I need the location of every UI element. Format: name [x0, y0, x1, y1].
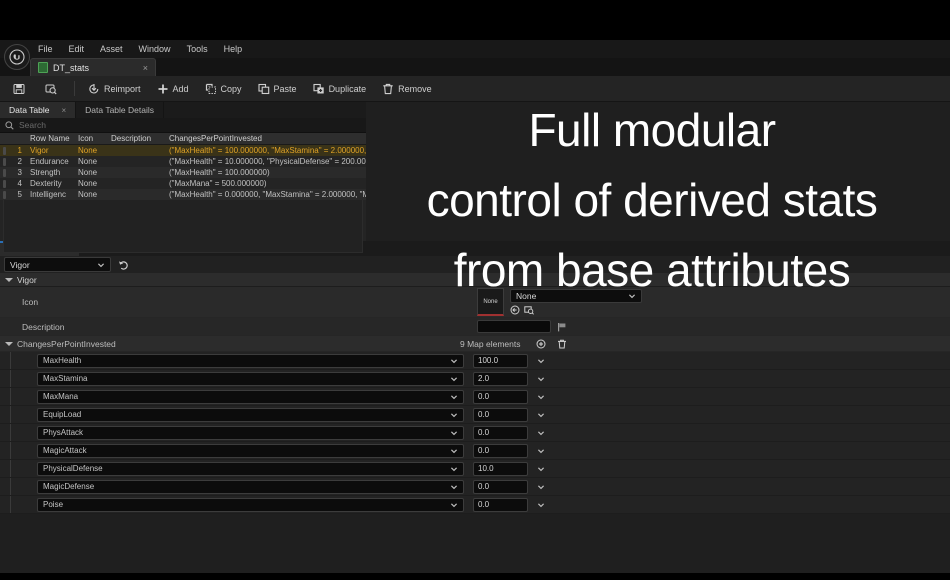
row-icon-value: None: [78, 146, 111, 155]
menu-bar: File Edit Asset Window Tools Help: [0, 40, 950, 58]
chevron-down-icon[interactable]: [537, 411, 545, 419]
asset-tab-label: DT_stats: [53, 63, 138, 73]
map-entry-key[interactable]: MagicAttack: [37, 444, 464, 458]
chevron-down-icon: [450, 393, 458, 401]
chevron-down-icon: [450, 465, 458, 473]
chevron-down-icon: [450, 357, 458, 365]
tree-indent-line: [10, 496, 11, 513]
copy-icon: [205, 83, 217, 95]
search-bar[interactable]: Search: [0, 118, 366, 133]
duplicate-button[interactable]: Duplicate: [306, 78, 374, 99]
datatable-icon: [38, 62, 48, 73]
map-entry-key[interactable]: MaxStamina: [37, 372, 464, 386]
column-header-changes[interactable]: ChangesPerPointInvested: [169, 134, 366, 143]
map-entry-key-label: MaxMana: [43, 392, 78, 401]
chevron-down-icon[interactable]: [537, 393, 545, 401]
asset-toolbar: Reimport Add Copy: [0, 76, 950, 102]
column-header-row-name[interactable]: Row Name: [25, 134, 78, 143]
row-index: 2: [10, 157, 25, 166]
chevron-down-icon[interactable]: [537, 447, 545, 455]
row-name: Intelligenc: [25, 190, 78, 199]
save-button[interactable]: [6, 78, 36, 99]
map-entry-row: PhysAttack 0.0: [0, 424, 950, 442]
tree-indent-line: [10, 460, 11, 477]
tree-indent-line: [10, 370, 11, 387]
unreal-editor-window: File Edit Asset Window Tools Help DT_sta…: [0, 40, 950, 573]
row-index: 4: [10, 179, 25, 188]
map-entry-key[interactable]: PhysicalDefense: [37, 462, 464, 476]
unreal-logo-icon[interactable]: [4, 44, 30, 70]
duplicate-label: Duplicate: [329, 84, 367, 94]
map-entry-key[interactable]: PhysAttack: [37, 426, 464, 440]
tree-indent-line: [10, 388, 11, 405]
row-changes: ("MaxHealth" = 10.000000, "PhysicalDefen…: [169, 157, 366, 166]
property-value-description: [477, 320, 950, 333]
row-index: 5: [10, 190, 25, 199]
icon-asset-dropdown[interactable]: None: [510, 289, 642, 303]
panel-tab-bar: Data Table × Data Table Details: [0, 102, 366, 118]
map-entry-key[interactable]: MaxMana: [37, 390, 464, 404]
undo-icon[interactable]: [118, 259, 130, 271]
map-entry-key-label: MaxHealth: [43, 356, 81, 365]
row-editor-panel: Row Editor × Vigor Vigor: [0, 241, 950, 514]
browse-button[interactable]: [38, 78, 68, 99]
icon-asset-thumbnail[interactable]: None: [477, 288, 504, 316]
trash-icon: [382, 83, 394, 95]
row-changes: ("MaxHealth" = 100.000000, "MaxStamina" …: [169, 146, 366, 155]
chevron-down-icon: [628, 292, 636, 300]
map-entry-row: Poise 0.0: [0, 496, 950, 514]
paste-label: Paste: [274, 84, 297, 94]
menu-item-tools[interactable]: Tools: [179, 40, 216, 58]
map-entry-row: MaxHealth 100.0: [0, 352, 950, 370]
map-entry-row: PhysicalDefense 10.0: [0, 460, 950, 478]
row-grip: [0, 169, 10, 177]
data-table-panel: Data Table × Data Table Details Search R…: [0, 102, 366, 241]
remove-label: Remove: [398, 84, 432, 94]
paste-icon: [258, 83, 270, 95]
tab-data-table-details-label: Data Table Details: [85, 105, 154, 115]
chevron-down-icon[interactable]: [537, 465, 545, 473]
table-row[interactable]: 4 Dexterity None ("MaxMana" = 500.000000…: [0, 178, 366, 189]
table-body: 1 Vigor None ("MaxHealth" = 100.000000, …: [0, 145, 366, 200]
row-selector-value: Vigor: [10, 260, 30, 270]
table-row[interactable]: 3 Strength None ("MaxHealth" = 100.00000…: [0, 167, 366, 178]
map-entry-value[interactable]: 0.0: [473, 480, 528, 494]
icon-asset-actions: [510, 305, 642, 315]
menu-item-file[interactable]: File: [30, 40, 61, 58]
row-index: 1: [10, 146, 25, 155]
plus-icon: [157, 83, 169, 95]
menu-item-window[interactable]: Window: [131, 40, 179, 58]
menu-item-edit[interactable]: Edit: [61, 40, 93, 58]
search-input[interactable]: Search: [19, 120, 46, 130]
row-icon-value: None: [78, 179, 111, 188]
property-label-changes: ChangesPerPointInvested: [17, 339, 116, 349]
row-selector-dropdown[interactable]: Vigor: [4, 257, 111, 272]
close-icon[interactable]: ×: [61, 106, 66, 115]
row-changes: ("MaxHealth" = 0.000000, "MaxStamina" = …: [169, 190, 366, 199]
menu-item-help[interactable]: Help: [216, 40, 251, 58]
add-element-icon[interactable]: [536, 339, 546, 349]
chevron-down-icon: [450, 501, 458, 509]
map-entry-key-label: PhysAttack: [43, 428, 83, 437]
map-entry-value[interactable]: 2.0: [473, 372, 528, 386]
chevron-down-icon[interactable]: [537, 375, 545, 383]
duplicate-icon: [313, 83, 325, 95]
row-icon-value: None: [78, 190, 111, 199]
copy-button[interactable]: Copy: [198, 78, 249, 99]
tree-indent-line: [10, 424, 11, 441]
chevron-down-icon[interactable]: [537, 501, 545, 509]
row-grip: [0, 191, 10, 199]
row-grip: [0, 180, 10, 188]
use-selected-asset-icon[interactable]: [510, 305, 520, 315]
map-entry-key-label: MagicAttack: [43, 446, 87, 455]
reimport-button[interactable]: Reimport: [81, 78, 148, 99]
property-label-description: Description: [0, 322, 477, 332]
chevron-down-icon: [5, 278, 13, 282]
toolbar-separator: [74, 81, 75, 96]
column-header-icon[interactable]: Icon: [78, 134, 111, 143]
map-entry-row: MagicAttack 0.0: [0, 442, 950, 460]
icon-thumbnail-label: None: [483, 299, 497, 305]
chevron-down-icon: [97, 261, 105, 269]
map-entry-row: MaxStamina 2.0: [0, 370, 950, 388]
reimport-icon: [88, 83, 100, 95]
row-icon-value: None: [78, 157, 111, 166]
data-table-grid: Row Name Icon Description ChangesPerPoin…: [0, 133, 366, 241]
remove-button[interactable]: Remove: [375, 78, 439, 99]
map-entry-key-label: PhysicalDefense: [43, 464, 103, 473]
property-category-label: Vigor: [17, 275, 37, 285]
icon-asset-value: None: [516, 291, 536, 301]
browse-to-asset-icon[interactable]: [524, 305, 534, 315]
save-icon: [13, 83, 25, 95]
row-grip: [0, 147, 10, 155]
chevron-down-icon: [450, 447, 458, 455]
column-header-description[interactable]: Description: [111, 134, 169, 143]
add-label: Add: [173, 84, 189, 94]
table-row[interactable]: 1 Vigor None ("MaxHealth" = 100.000000, …: [0, 145, 366, 156]
chevron-down-icon[interactable]: [537, 483, 545, 491]
chevron-down-icon[interactable]: [537, 429, 545, 437]
asset-tab-bar: DT_stats ×: [0, 58, 950, 76]
tab-data-table-details[interactable]: Data Table Details: [76, 102, 164, 118]
map-entry-value[interactable]: 0.0: [473, 408, 528, 422]
map-entry-value[interactable]: 0.0: [473, 426, 528, 440]
map-entry-key-label: Poise: [43, 500, 63, 509]
row-index: 3: [10, 168, 25, 177]
table-header-row: Row Name Icon Description ChangesPerPoin…: [0, 133, 366, 145]
map-entry-value[interactable]: 100.0: [473, 354, 528, 368]
table-empty-area: [3, 200, 363, 253]
row-name: Endurance: [25, 157, 78, 166]
map-entry-value[interactable]: 0.0: [473, 498, 528, 512]
property-label-changes-wrap[interactable]: ChangesPerPointInvested: [0, 339, 460, 349]
property-label-icon: Icon: [0, 297, 477, 307]
map-entry-row: MagicDefense 0.0: [0, 478, 950, 496]
tree-indent-line: [10, 442, 11, 459]
row-changes: ("MaxHealth" = 100.000000): [169, 168, 366, 177]
map-entry-row: MaxMana 0.0: [0, 388, 950, 406]
chevron-down-icon: [450, 375, 458, 383]
close-icon[interactable]: ×: [143, 63, 148, 73]
map-element-count: 9 Map elements: [460, 339, 520, 349]
tree-indent-line: [10, 352, 11, 369]
description-input[interactable]: [477, 320, 551, 333]
map-entry-key[interactable]: MagicDefense: [37, 480, 464, 494]
tab-data-table[interactable]: Data Table ×: [0, 102, 76, 118]
add-button[interactable]: Add: [150, 78, 196, 99]
table-row[interactable]: 2 Endurance None ("MaxHealth" = 10.00000…: [0, 156, 366, 167]
property-value-icon: None None: [477, 288, 950, 316]
chevron-down-icon[interactable]: [537, 357, 545, 365]
chevron-down-icon: [450, 429, 458, 437]
reimport-label: Reimport: [104, 84, 141, 94]
table-row[interactable]: 5 Intelligenc None ("MaxHealth" = 0.0000…: [0, 189, 366, 200]
row-name: Strength: [25, 168, 78, 177]
search-icon: [5, 121, 14, 130]
map-entry-key-label: MagicDefense: [43, 482, 94, 491]
property-row-changes-map: ChangesPerPointInvested 9 Map elements: [0, 336, 950, 352]
row-name: Dexterity: [25, 179, 78, 188]
row-grip: [0, 158, 10, 166]
map-entry-list: MaxHealth 100.0 MaxStamina: [0, 352, 950, 514]
map-toolbar: 9 Map elements: [460, 339, 950, 349]
chevron-down-icon: [5, 342, 13, 346]
row-changes: ("MaxMana" = 500.000000): [169, 179, 366, 188]
map-entry-key[interactable]: Poise: [37, 498, 464, 512]
tree-indent-line: [10, 406, 11, 423]
map-entry-key[interactable]: EquipLoad: [37, 408, 464, 422]
chevron-down-icon: [450, 411, 458, 419]
row-name: Vigor: [25, 146, 78, 155]
flag-icon[interactable]: [557, 322, 567, 332]
chevron-down-icon: [450, 483, 458, 491]
asset-tab-dt-stats[interactable]: DT_stats ×: [30, 58, 156, 76]
row-icon-value: None: [78, 168, 111, 177]
property-row-icon: Icon None None: [0, 287, 950, 318]
map-entry-key-label: MaxStamina: [43, 374, 87, 383]
map-entry-key-label: EquipLoad: [43, 410, 81, 419]
property-category-vigor[interactable]: Vigor: [0, 273, 950, 287]
paste-button[interactable]: Paste: [251, 78, 304, 99]
menu-item-asset[interactable]: Asset: [92, 40, 131, 58]
delete-all-elements-icon[interactable]: [557, 339, 567, 349]
row-selector-bar: Vigor: [0, 256, 950, 273]
map-entry-row: EquipLoad 0.0: [0, 406, 950, 424]
tree-indent-line: [10, 478, 11, 495]
tab-data-table-label: Data Table: [9, 105, 49, 115]
browse-icon: [45, 83, 57, 95]
map-entry-key[interactable]: MaxHealth: [37, 354, 464, 368]
property-row-description: Description: [0, 318, 950, 336]
map-entry-value[interactable]: 0.0: [473, 390, 528, 404]
map-entry-value[interactable]: 0.0: [473, 444, 528, 458]
map-entry-value[interactable]: 10.0: [473, 462, 528, 476]
copy-label: Copy: [221, 84, 242, 94]
